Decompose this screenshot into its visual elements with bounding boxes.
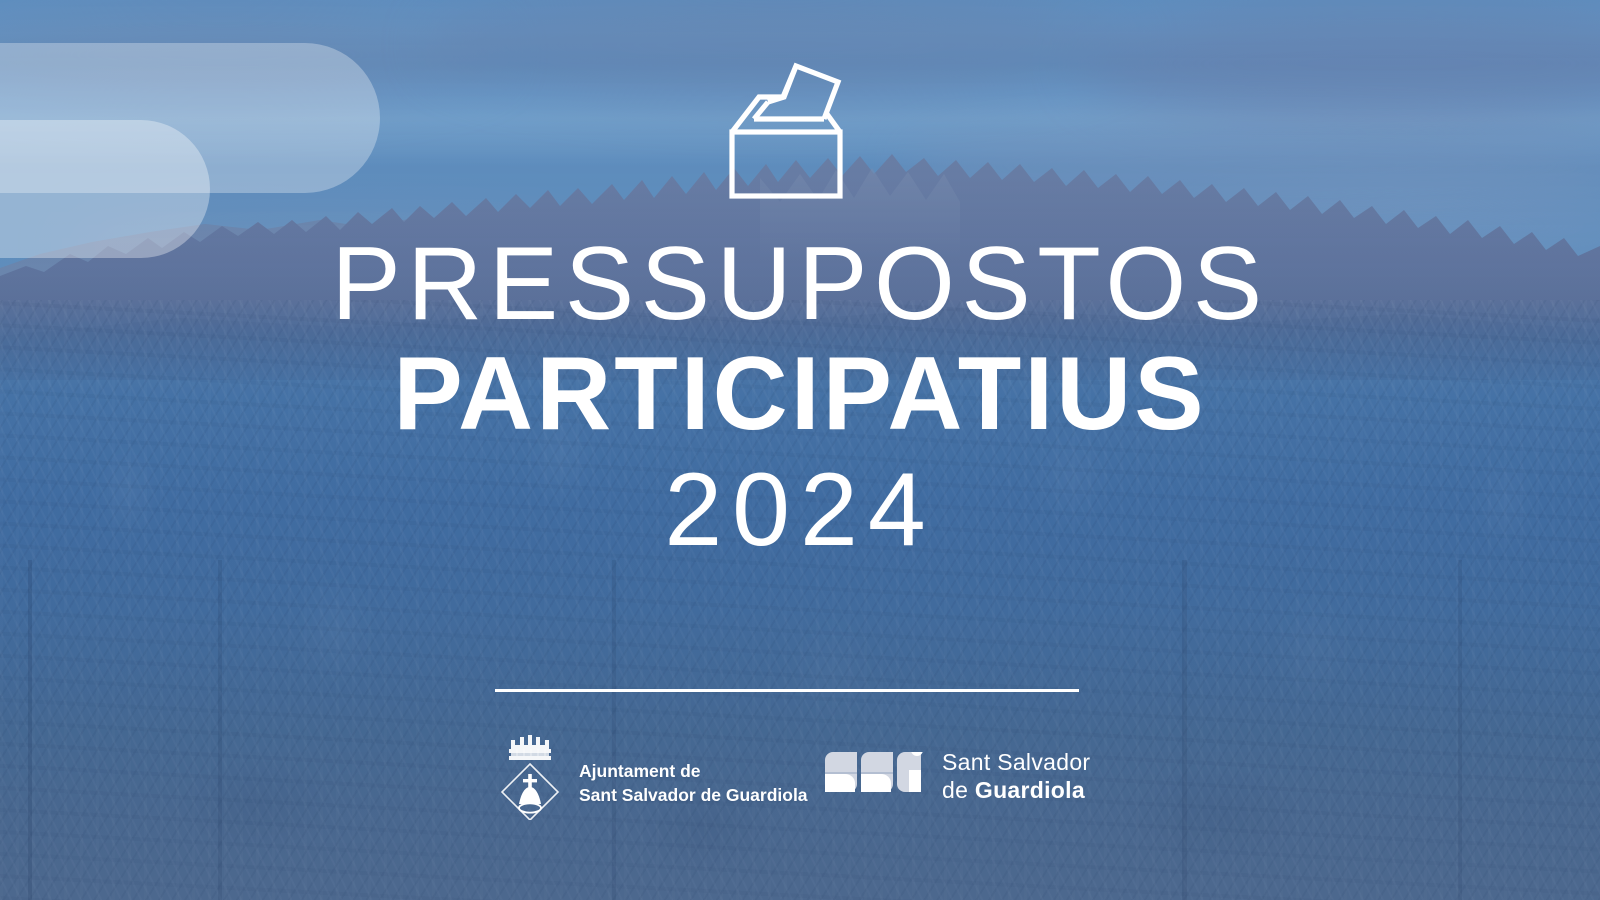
ballot-box-icon <box>726 62 846 200</box>
ssg-wordmark: Sant Salvador de Guardiola <box>942 748 1090 804</box>
ssg-line1: Sant Salvador <box>942 748 1090 776</box>
title-line-year: 2024 <box>0 452 1600 568</box>
title-line-pressupostos: PRESSUPOSTOS <box>0 232 1600 336</box>
poster-canvas: PRESSUPOSTOS PARTICIPATIUS 2024 <box>0 0 1600 900</box>
coat-of-arms-icon <box>495 724 565 820</box>
ssg-line2: de Guardiola <box>942 776 1090 804</box>
ajuntament-line1: Ajuntament de <box>579 760 808 783</box>
ssg-logo: Sant Salvador de Guardiola <box>825 748 1090 804</box>
ssg-monogram-icon <box>825 752 929 800</box>
ajuntament-wordmark: Ajuntament de Sant Salvador de Guardiola <box>579 760 808 820</box>
ajuntament-line2: Sant Salvador de Guardiola <box>579 784 808 807</box>
title-line-participatius: PARTICIPATIUS <box>0 336 1600 452</box>
ssg-line2-bold: Guardiola <box>975 777 1085 803</box>
ssg-line2-light: de <box>942 777 975 803</box>
title-block: PRESSUPOSTOS PARTICIPATIUS 2024 <box>0 232 1600 569</box>
footer-logos: Ajuntament de Sant Salvador de Guardiola <box>495 724 1085 820</box>
horizontal-divider <box>495 689 1079 692</box>
ajuntament-logo: Ajuntament de Sant Salvador de Guardiola <box>495 724 808 820</box>
